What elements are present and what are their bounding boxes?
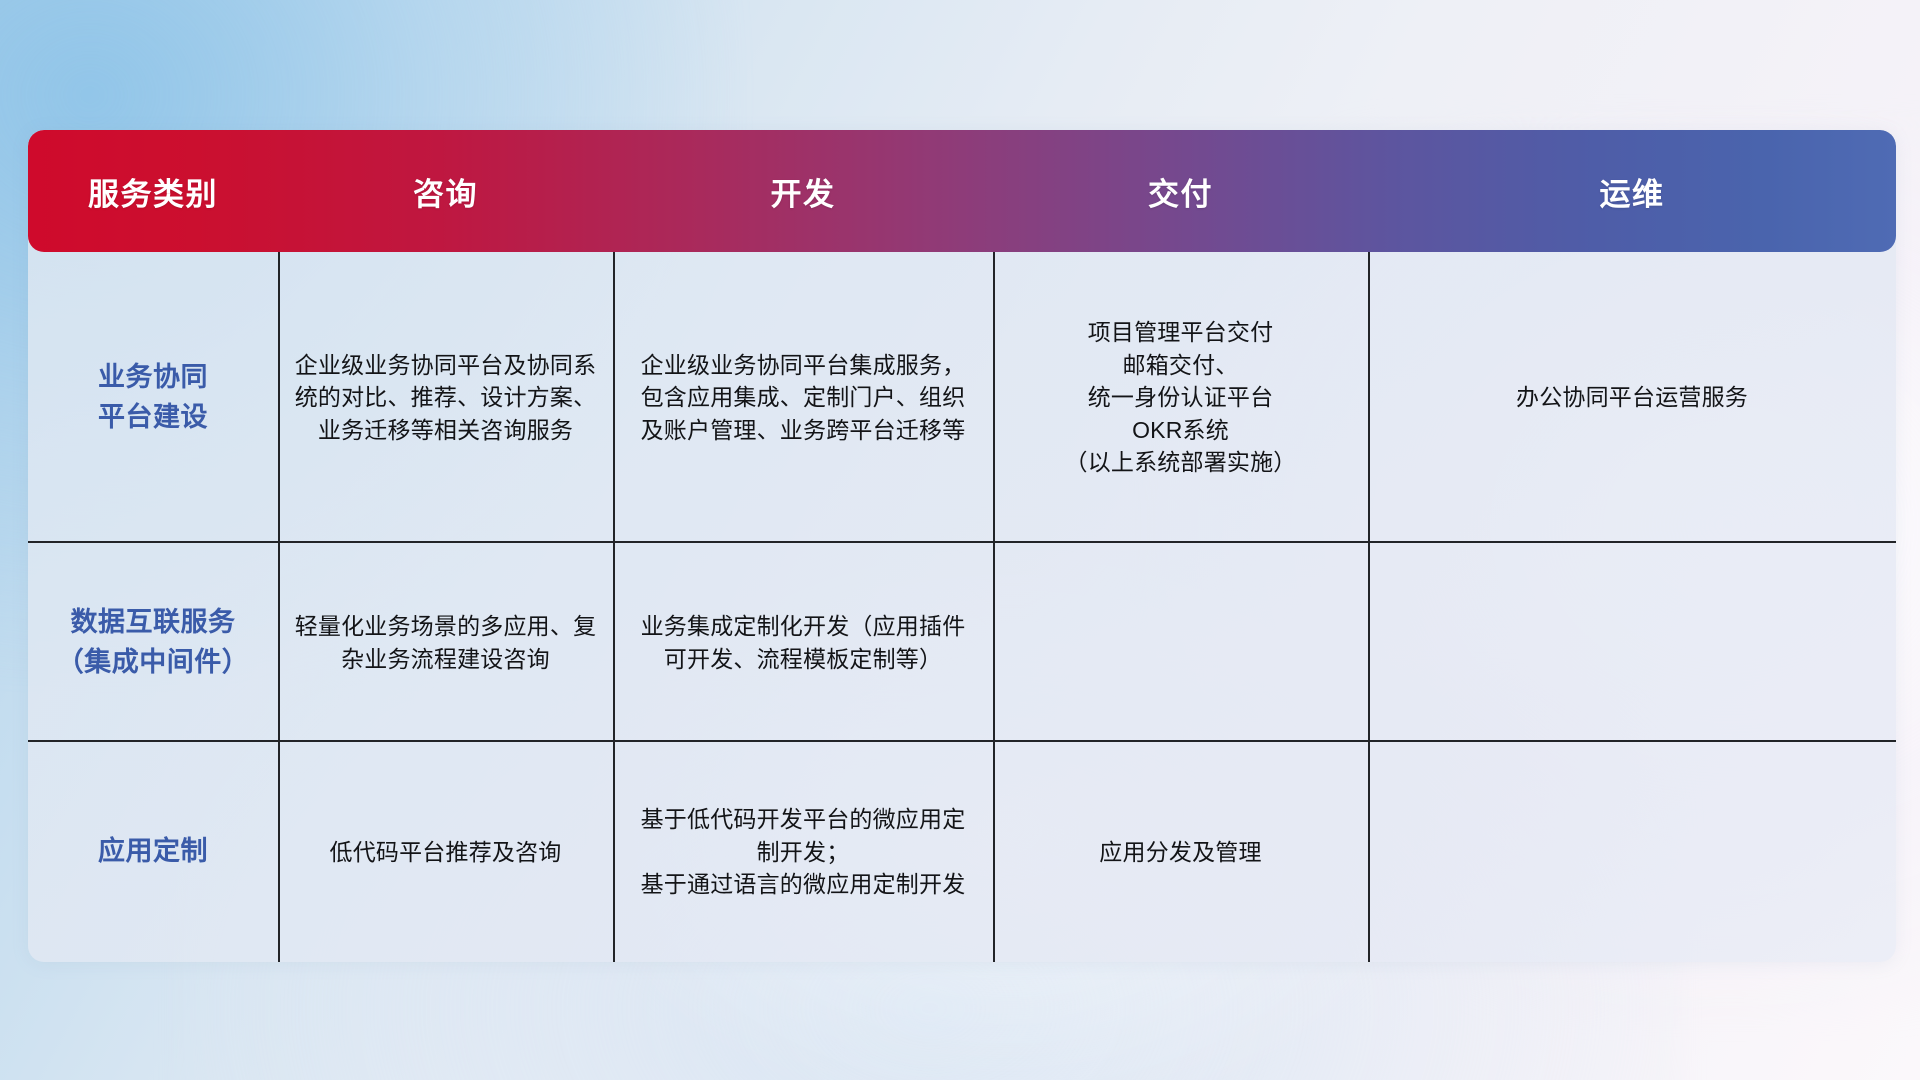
cell-delivery-row3: 应用分发及管理 [993,742,1368,962]
cell-consulting-row3: 低代码平台推荐及咨询 [278,742,613,962]
cell-operations-row3 [1368,742,1896,962]
table-header-row: 服务类别 咨询 开发 交付 运维 [28,130,1896,252]
cell-development-row1: 企业级业务协同平台集成服务， 包含应用集成、定制门户、组织 及账户管理、业务跨平… [613,252,993,543]
table-column-development: 企业级业务协同平台集成服务， 包含应用集成、定制门户、组织 及账户管理、业务跨平… [613,252,993,962]
cell-consulting-row2: 轻量化业务场景的多应用、复 杂业务流程建设咨询 [278,543,613,742]
column-header-delivery: 交付 [993,130,1368,252]
table-column-consulting: 企业级业务协同平台及协同系 统的对比、推荐、设计方案、 业务迁移等相关咨询服务 … [278,252,613,962]
table-column-category: 业务协同 平台建设 数据互联服务 （集成中间件） 应用定制 [28,252,278,962]
cell-consulting-row1: 企业级业务协同平台及协同系 统的对比、推荐、设计方案、 业务迁移等相关咨询服务 [278,252,613,543]
service-matrix-table: 服务类别 咨询 开发 交付 运维 业务协同 平台建设 数据互联服务 （集成中间件… [28,130,1896,962]
table-column-delivery: 项目管理平台交付 邮箱交付、 统一身份认证平台 OKR系统 （以上系统部署实施）… [993,252,1368,962]
column-header-operations: 运维 [1368,130,1896,252]
column-header-category: 服务类别 [28,130,278,252]
table-body: 业务协同 平台建设 数据互联服务 （集成中间件） 应用定制 企业级业务协同平台及… [28,252,1896,962]
cell-development-row3: 基于低代码开发平台的微应用定 制开发； 基于通过语言的微应用定制开发 [613,742,993,962]
column-header-development: 开发 [613,130,993,252]
cell-operations-row1: 办公协同平台运营服务 [1368,252,1896,543]
row-label-app-customization: 应用定制 [28,742,278,962]
column-header-consulting: 咨询 [278,130,613,252]
row-label-business-collaboration: 业务协同 平台建设 [28,252,278,543]
cell-delivery-row2 [993,543,1368,742]
cell-development-row2: 业务集成定制化开发（应用插件 可开发、流程模板定制等） [613,543,993,742]
cell-delivery-row1: 项目管理平台交付 邮箱交付、 统一身份认证平台 OKR系统 （以上系统部署实施） [993,252,1368,543]
row-label-data-interconnect: 数据互联服务 （集成中间件） [28,543,278,742]
cell-operations-row2 [1368,543,1896,742]
table-column-operations: 办公协同平台运营服务 [1368,252,1896,962]
